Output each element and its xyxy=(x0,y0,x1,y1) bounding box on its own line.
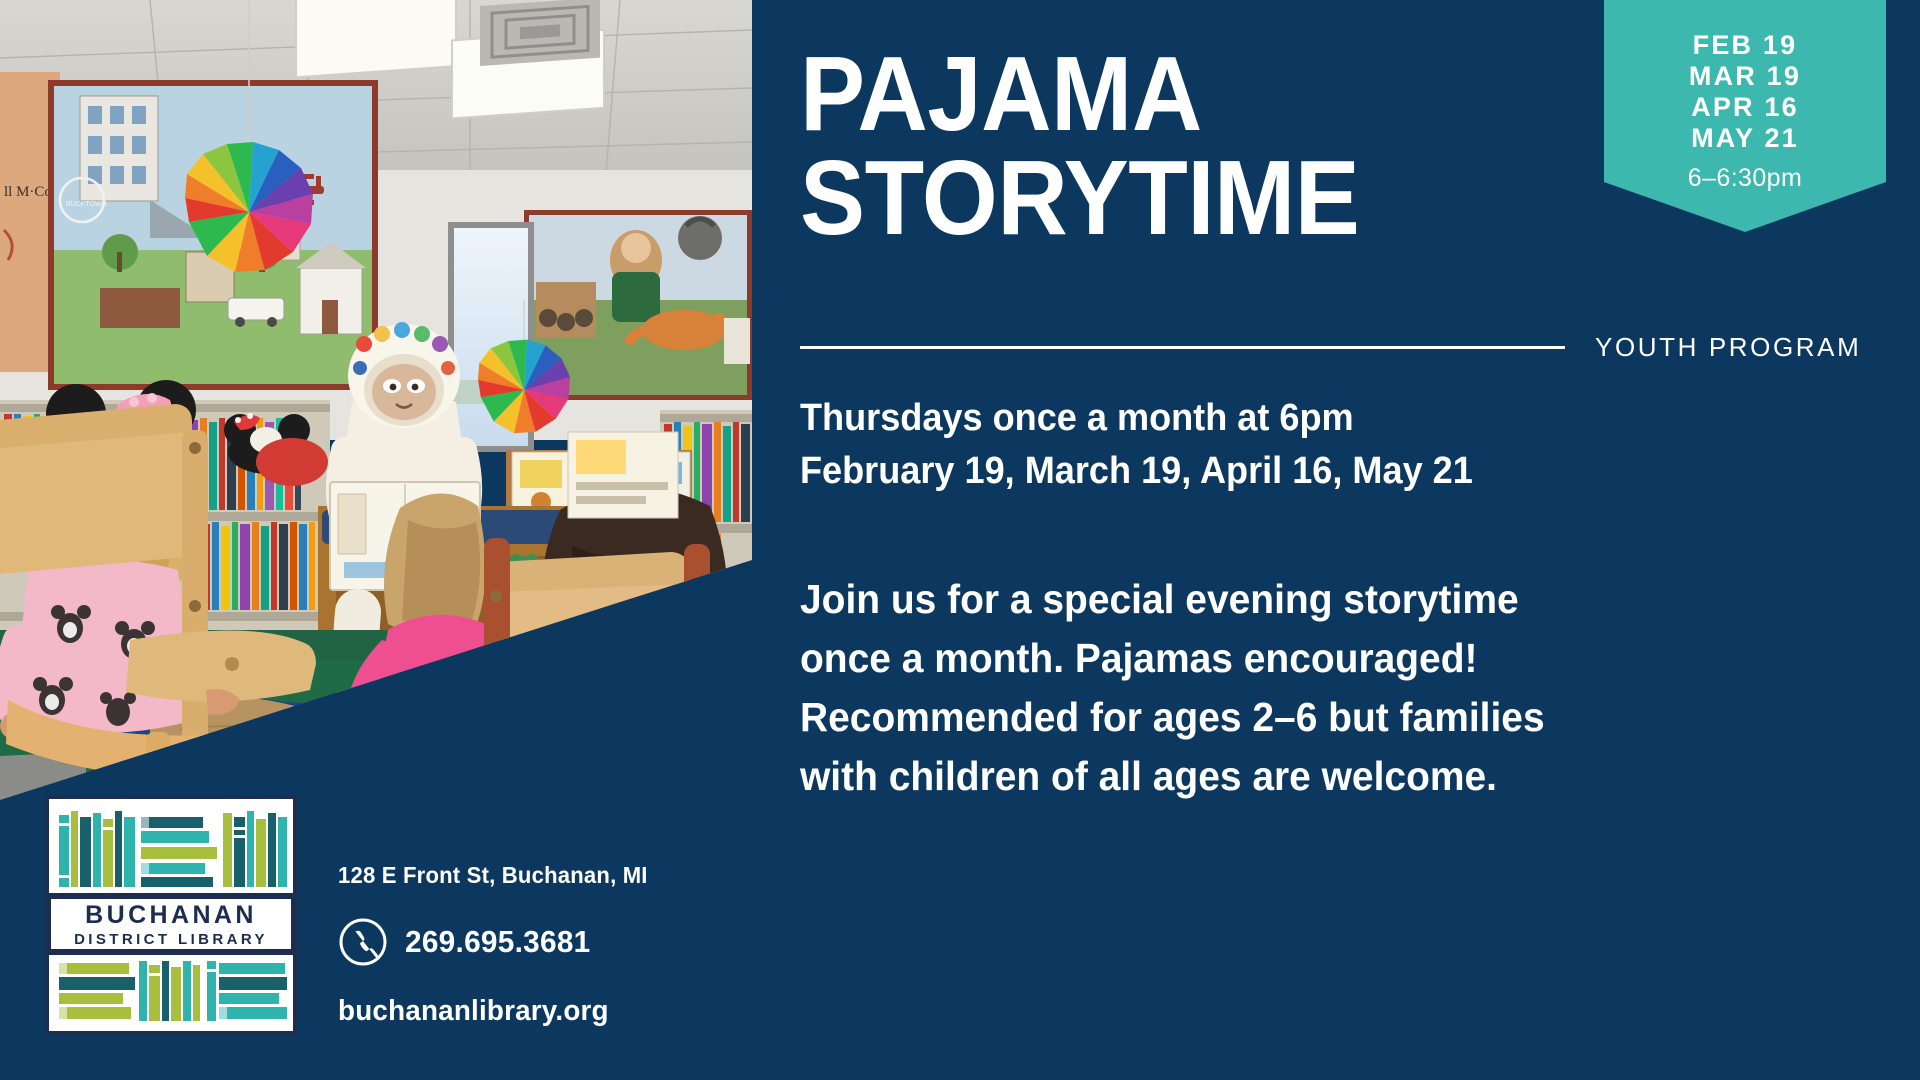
address-text: 128 E Front St, Buchanan, MI xyxy=(338,862,837,889)
phone-row[interactable]: 269.695.3681 xyxy=(338,917,858,967)
description-line-2: once a month. Pajamas encouraged! xyxy=(800,629,1703,688)
phone-number: 269.695.3681 xyxy=(405,924,591,960)
library-logo-mark: BUCHANAN DISTRICT LIBRARY xyxy=(45,795,297,1035)
title-divider-row: YOUTH PROGRAM xyxy=(800,332,1890,362)
flyer-canvas: ll M·Coy BUCKTOWN xyxy=(0,0,1920,1080)
description-line-1: Join us for a special evening storytime xyxy=(800,570,1703,629)
website-text[interactable]: buchananlibrary.org xyxy=(338,995,837,1028)
logo-name-line2: DISTRICT LIBRARY xyxy=(74,931,268,948)
storytime-photo: ll M·Coy BUCKTOWN xyxy=(0,0,752,800)
contact-block: 128 E Front St, Buchanan, MI 269.695.368… xyxy=(338,862,858,1028)
library-logo: BUCHANAN DISTRICT LIBRARY xyxy=(45,795,297,1035)
title-line-2: STORYTIME xyxy=(800,146,1775,250)
program-tag: YOUTH PROGRAM xyxy=(1595,332,1861,363)
schedule-block: Thursdays once a month at 6pm February 1… xyxy=(800,392,1800,498)
page-title: PAJAMA STORYTIME xyxy=(800,42,1860,250)
description-block: Join us for a special evening storytime … xyxy=(800,570,1750,806)
horizontal-rule xyxy=(800,346,1565,349)
schedule-line-1: Thursdays once a month at 6pm xyxy=(800,392,1750,445)
svg-text:BUCKTOWN: BUCKTOWN xyxy=(66,201,107,208)
description-line-4: with children of all ages are welcome. xyxy=(800,747,1703,806)
schedule-line-2: February 19, March 19, April 16, May 21 xyxy=(800,445,1750,498)
title-line-1: PAJAMA xyxy=(800,42,1775,146)
logo-name-line1: BUCHANAN xyxy=(85,901,257,929)
storytime-photo-illustration: ll M·Coy BUCKTOWN xyxy=(0,0,752,800)
phone-in-circle-icon xyxy=(338,917,388,967)
description-line-3: Recommended for ages 2–6 but families xyxy=(800,688,1703,747)
